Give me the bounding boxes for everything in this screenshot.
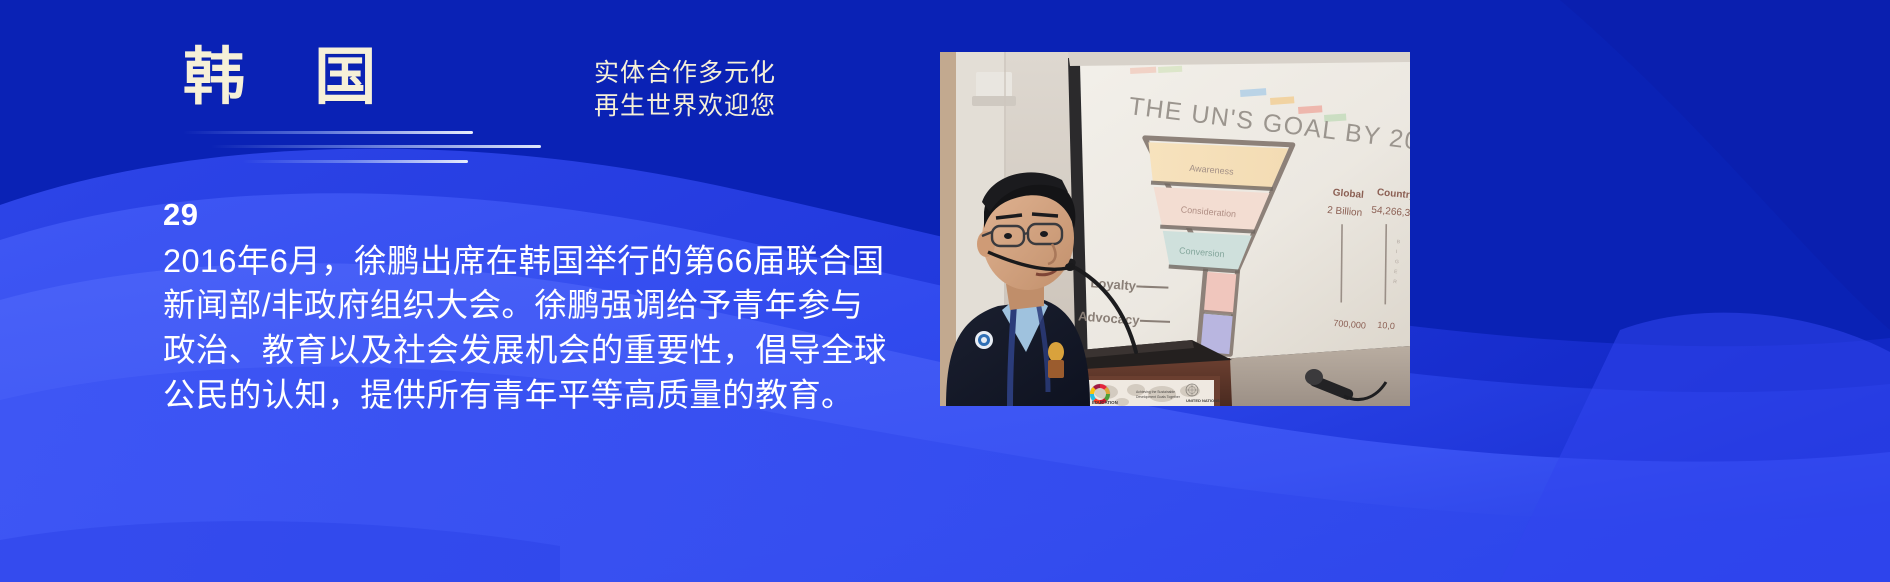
title-rule-1 [183, 131, 473, 134]
body-text-block: 29 2016年6月，徐鹏出席在韩国举行的第66届联合国 新闻部/非政府组织大会… [163, 197, 903, 418]
subtitle-line-2: 再生世界欢迎您 [594, 90, 776, 123]
podium-banner-title: EDUCATION [1092, 400, 1118, 405]
wall-vent [972, 72, 1016, 106]
slide-subtitle: 实体合作多元化 再生世界欢迎您 [594, 57, 776, 123]
body-line-2: 新闻部/非政府组织大会。徐鹏强调给予青年参与 [163, 283, 903, 328]
page-title: 韩 国 [183, 47, 523, 109]
title-rule-3 [243, 160, 468, 163]
lapel-badge-right [1048, 342, 1064, 362]
event-photograph: THE UN'S GOAL BY 2017 [940, 52, 1410, 406]
body-line-3: 政治、教育以及社会发展机会的重要性，倡导全球 [163, 328, 903, 373]
body-line-1: 2016年6月，徐鹏出席在韩国举行的第66届联合国 [163, 239, 903, 284]
svg-text:Development Goals Together: Development Goals Together [1136, 395, 1181, 399]
subtitle-line-1: 实体合作多元化 [594, 57, 776, 90]
body-line-4: 公民的认知，提供所有青年平等高质量的教育。 [163, 373, 903, 418]
item-number: 29 [163, 197, 903, 233]
presentation-slide: 韩 国 实体合作多元化 再生世界欢迎您 29 2016年6月，徐鹏出席在韩国举行… [0, 0, 1890, 582]
un-emblem-icon [1186, 384, 1198, 396]
photo-content: THE UN'S GOAL BY 2017 [940, 52, 1410, 406]
podium-banner-subtitle: Achieving the Sustainable [1136, 390, 1175, 394]
svg-text:G: G [1395, 259, 1400, 265]
title-rule-2 [211, 145, 541, 148]
svg-text:UNITED NATIONS: UNITED NATIONS [1186, 398, 1220, 403]
stat-footer-country: 10,0 [1377, 320, 1395, 331]
slide-title-block: 韩 国 [183, 47, 523, 177]
title-decorative-rules [181, 129, 541, 177]
